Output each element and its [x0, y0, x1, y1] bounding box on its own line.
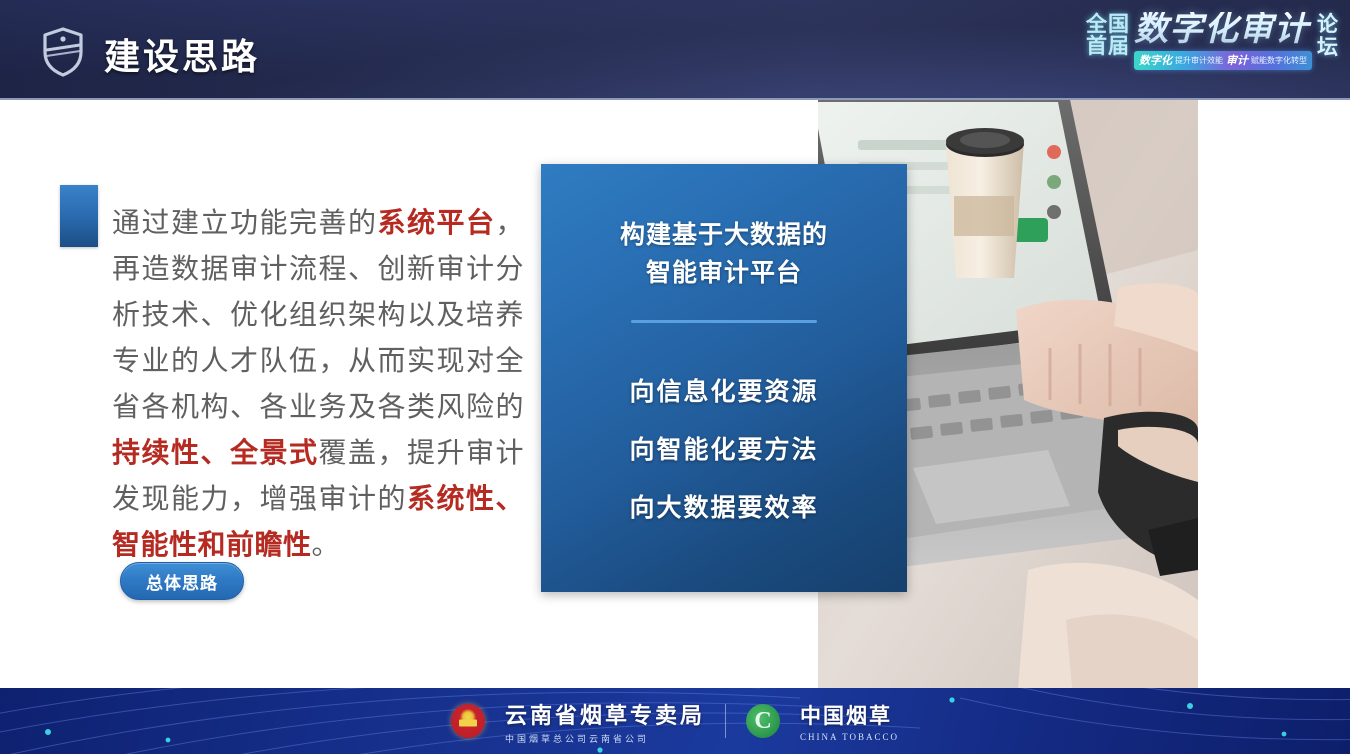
- panel-heading-line2: 智能审计平台: [541, 254, 907, 292]
- panel-goal-list: 向信息化要资源 向智能化要方法 向大数据要效率: [541, 363, 907, 537]
- brand-divider: [725, 704, 726, 738]
- forum-logo-line1: 全国: [1086, 14, 1130, 36]
- list-item: 向信息化要资源: [541, 363, 907, 421]
- china-tobacco-logo-icon: C: [746, 704, 780, 738]
- panel-heading-line1: 构建基于大数据的: [541, 216, 907, 254]
- paragraph-highlight-1: 系统平台: [377, 207, 495, 238]
- slide-header: 建设思路 全国 首届 数字化审计 数字化 提升审计效能 审计 赋能数字化转型 论…: [0, 0, 1350, 100]
- forum-logo-line2: 首届: [1086, 36, 1130, 58]
- forum-logo-suffix: 论 坛: [1317, 12, 1338, 59]
- footer-brands: 云南省烟草专卖局 中国烟草总公司云南省公司 C 中国烟草 CHINA TOBAC…: [0, 688, 1350, 754]
- forum-subtitle-a-bold: 数字化: [1139, 52, 1172, 68]
- list-item: 向大数据要效率: [541, 479, 907, 537]
- page-title: 建设思路: [104, 28, 260, 80]
- china-tobacco-brand: 中国烟草 CHINA TOBACCO: [800, 700, 899, 742]
- paragraph-highlight-2: 持续性、全景式: [112, 437, 318, 468]
- forum-logo-center: 数字化审计 数字化 提升审计效能 审计 赋能数字化转型: [1134, 12, 1312, 70]
- forum-logo-main: 数字化审计: [1134, 12, 1312, 48]
- forum-logo-subtitle-bar: 数字化 提升审计效能 审计 赋能数字化转型: [1134, 51, 1312, 70]
- body-paragraph: 通过建立功能完善的系统平台，再造数据审计流程、创新审计分析技术、优化组织架构以及…: [112, 200, 524, 568]
- brand-cn-name: 云南省烟草专卖局: [505, 698, 705, 730]
- forum-subtitle-a-small: 提升审计效能: [1175, 55, 1223, 66]
- brand-cn-subtitle: 中国烟草总公司云南省公司: [505, 732, 705, 745]
- overall-approach-button[interactable]: 总体思路: [120, 562, 244, 600]
- panel-divider: [631, 320, 817, 323]
- forum-logo: 全国 首届 数字化审计 数字化 提升审计效能 审计 赋能数字化转型 论 坛: [1086, 12, 1338, 88]
- slide-root: 建设思路 全国 首届 数字化审计 数字化 提升审计效能 审计 赋能数字化转型 论…: [0, 0, 1350, 754]
- list-item: 向智能化要方法: [541, 421, 907, 479]
- national-emblem-icon: [451, 704, 485, 738]
- shield-icon: [40, 26, 86, 78]
- brand-ct-subtitle: CHINA TOBACCO: [800, 732, 899, 742]
- paragraph-part-4: 。: [312, 529, 341, 560]
- forum-logo-prefix: 全国 首届: [1086, 12, 1130, 58]
- paragraph-part-2: ，再造数据审计流程、创新审计分析技术、优化组织架构以及培养专业的人才队伍，从而实…: [112, 207, 524, 422]
- paragraph-part-1: 通过建立功能完善的: [112, 207, 377, 238]
- yunnan-tobacco-brand: 云南省烟草专卖局 中国烟草总公司云南省公司: [505, 698, 705, 745]
- forum-subtitle-b-bold: 审计: [1226, 52, 1248, 68]
- forum-subtitle-b-small: 赋能数字化转型: [1251, 55, 1307, 66]
- brand-ct-name: 中国烟草: [800, 700, 899, 730]
- panel-heading: 构建基于大数据的 智能审计平台: [541, 164, 907, 292]
- accent-square: [60, 185, 98, 247]
- forum-logo-right-bottom: 坛: [1317, 36, 1338, 59]
- forum-logo-right-top: 论: [1317, 13, 1338, 36]
- slide-footer: 云南省烟草专卖局 中国烟草总公司云南省公司 C 中国烟草 CHINA TOBAC…: [0, 688, 1350, 754]
- platform-panel: 构建基于大数据的 智能审计平台 向信息化要资源 向智能化要方法 向大数据要效率: [541, 164, 907, 592]
